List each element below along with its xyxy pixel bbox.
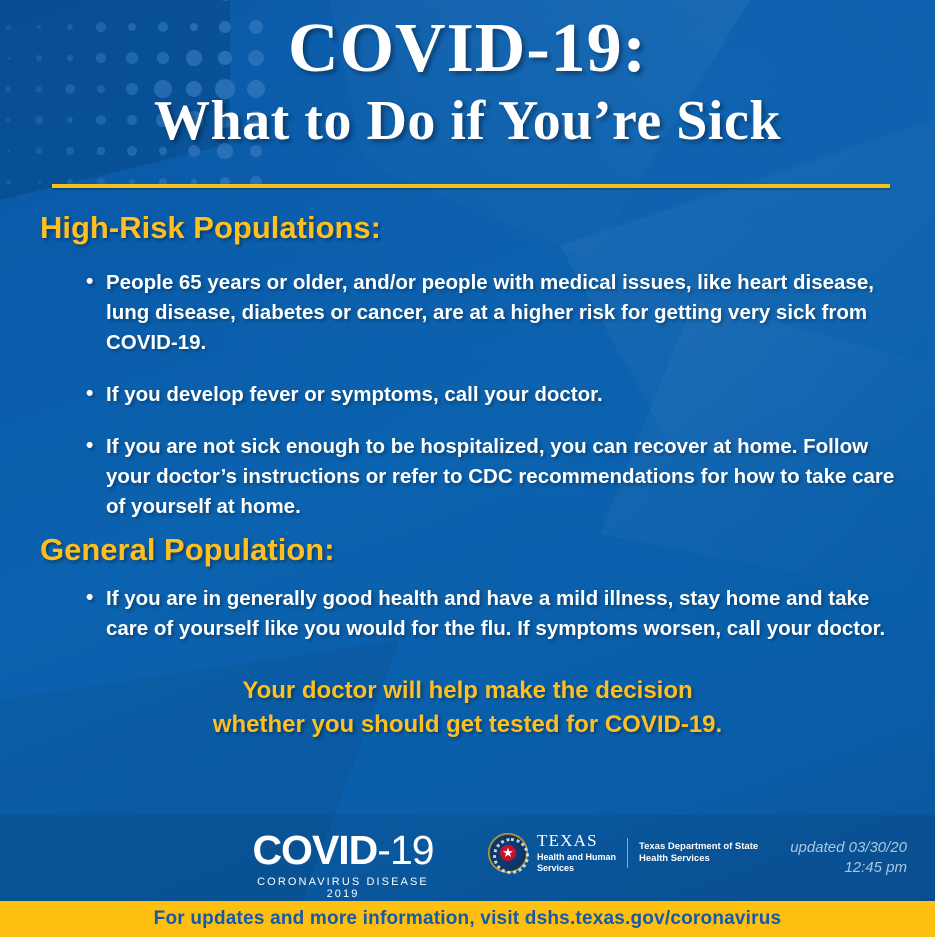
- page-subtitle: What to Do if You’re Sick: [0, 90, 935, 152]
- dshs-agency-name: Texas Department of State Health Service…: [639, 841, 758, 865]
- texas-hhs-logo: ★ TEXAS Health and Human Services Texas …: [488, 832, 758, 874]
- poster-content: High-Risk Populations: People 65 years o…: [0, 186, 935, 742]
- list-item: If you develop fever or symptoms, call y…: [78, 380, 895, 410]
- bullet-list-high-risk: People 65 years or older, and/or people …: [78, 268, 895, 522]
- covid-logo-word: COVID: [252, 827, 377, 873]
- covid-logo-number: -19: [377, 827, 433, 873]
- texas-wordmark: TEXAS: [537, 832, 616, 849]
- dshs-line-2: Health Services: [639, 853, 758, 865]
- infographic-poster: COVID-19: What to Do if You’re Sick High…: [0, 0, 935, 937]
- list-item: If you are in generally good health and …: [78, 584, 895, 644]
- title-block: COVID-19: What to Do if You’re Sick: [0, 0, 935, 152]
- covid-logo-subtitle: CORONAVIRUS DISEASE 2019: [243, 876, 443, 900]
- updated-timestamp: updated 03/30/20 12:45 pm: [790, 838, 907, 878]
- poster-header: COVID-19: What to Do if You’re Sick: [0, 0, 935, 186]
- star-icon: ★: [501, 846, 515, 860]
- dshs-line-1: Texas Department of State: [639, 841, 758, 853]
- section-heading-general-population: General Population:: [40, 522, 895, 568]
- hhs-agency-line-2: Services: [537, 863, 616, 874]
- covid-19-logo: COVID-19 CORONAVIRUS DISEASE 2019: [243, 830, 443, 900]
- updated-date: updated 03/30/20: [790, 838, 907, 858]
- bullet-list-general: If you are in generally good health and …: [78, 584, 895, 644]
- poster-footer: COVID-19 CORONAVIRUS DISEASE 2019 ★ TEXA…: [0, 818, 935, 898]
- callout-line-1: Your doctor will help make the decision: [40, 674, 895, 708]
- page-title: COVID-19:: [0, 14, 935, 84]
- callout-message: Your doctor will help make the decision …: [40, 674, 895, 742]
- texas-state-seal-icon: ★: [488, 833, 528, 873]
- list-item: If you are not sick enough to be hospita…: [78, 432, 895, 522]
- updated-time: 12:45 pm: [790, 858, 907, 878]
- website-url-text[interactable]: For updates and more information, visit …: [154, 908, 782, 930]
- section-heading-high-risk: High-Risk Populations:: [40, 186, 895, 246]
- hhs-agency-line-1: Health and Human: [537, 852, 616, 863]
- hhs-logo-text: TEXAS Health and Human Services Texas De…: [537, 832, 758, 874]
- hhs-logo-names: TEXAS Health and Human Services: [537, 832, 616, 874]
- list-item: People 65 years or older, and/or people …: [78, 268, 895, 358]
- logo-divider: [627, 838, 628, 868]
- callout-line-2: whether you should get tested for COVID-…: [40, 708, 895, 742]
- hhs-agency-name: Health and Human Services: [537, 852, 616, 874]
- covid-logo-wordmark: COVID-19: [243, 830, 443, 871]
- bottom-info-bar: For updates and more information, visit …: [0, 901, 935, 937]
